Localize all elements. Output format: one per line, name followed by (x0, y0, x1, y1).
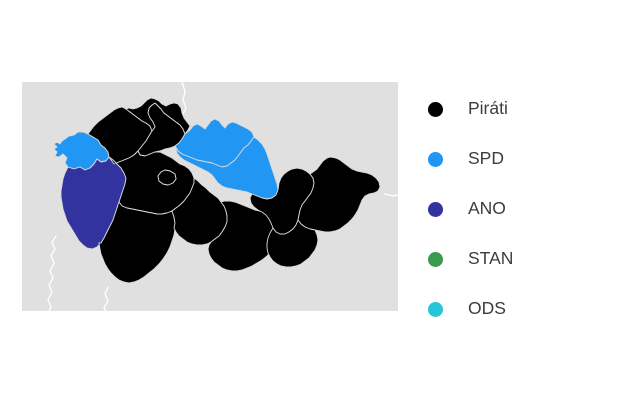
legend-label-ods: ODS (468, 300, 506, 318)
legend-item-pirati[interactable]: Piráti (428, 84, 628, 134)
czech-republic-choropleth-map (22, 82, 398, 311)
region-moravskoslezsky[interactable] (298, 157, 380, 232)
legend-item-ods[interactable]: ODS (428, 284, 628, 334)
legend-item-stan[interactable]: STAN (428, 234, 628, 284)
legend-item-ano[interactable]: ANO (428, 184, 628, 234)
map-panel (22, 82, 398, 311)
legend-label-stan: STAN (468, 250, 513, 268)
legend-color-dot-ano (428, 202, 443, 217)
legend-color-dot-ods (428, 302, 443, 317)
legend-label-pirati: Piráti (468, 100, 508, 118)
legend-color-dot-pirati (428, 102, 443, 117)
legend-label-spd: SPD (468, 150, 504, 168)
legend-color-dot-stan (428, 252, 443, 267)
legend-label-ano: ANO (468, 200, 506, 218)
map-regions (54, 98, 380, 283)
page-root: Piráti SPD ANO STAN ODS (0, 0, 641, 407)
legend-item-spd[interactable]: SPD (428, 134, 628, 184)
legend-color-dot-spd (428, 152, 443, 167)
map-legend: Piráti SPD ANO STAN ODS (428, 84, 628, 334)
